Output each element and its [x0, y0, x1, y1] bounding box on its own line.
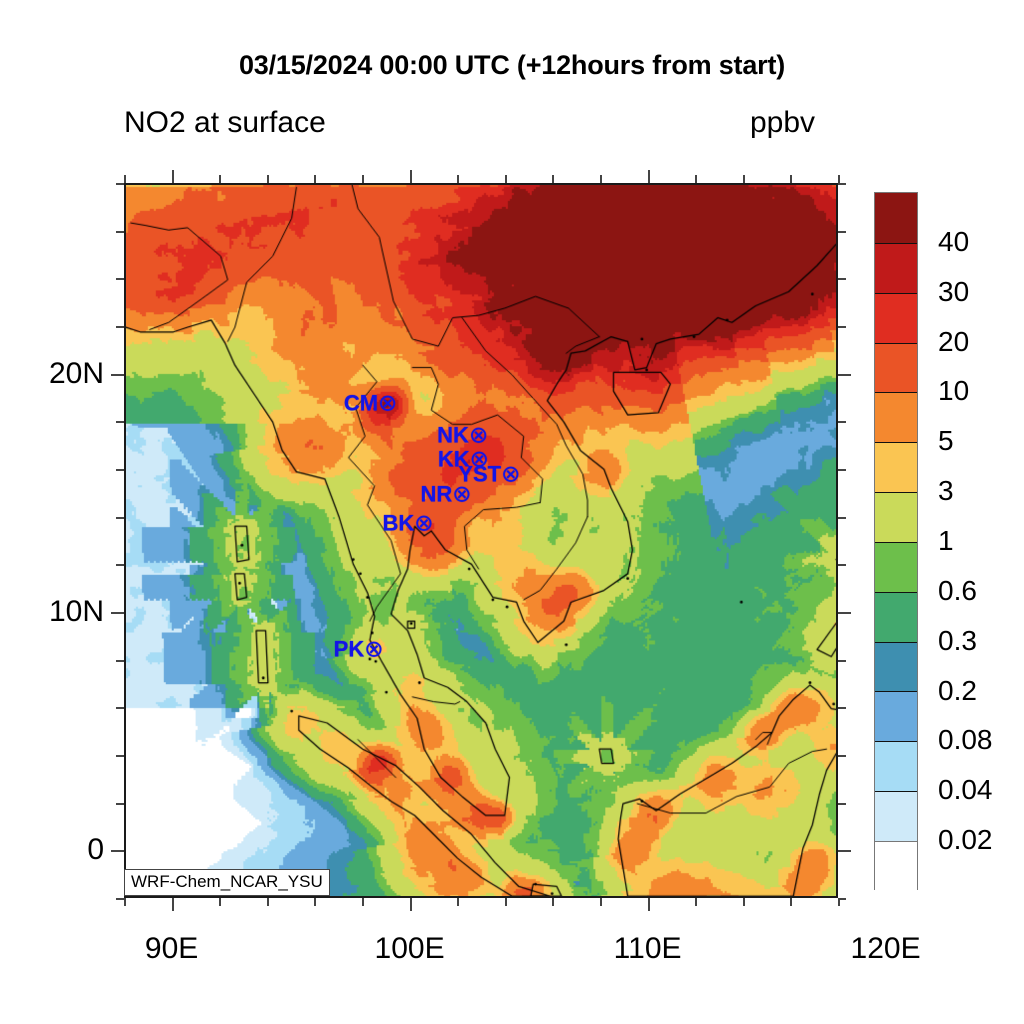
y-tick-minor	[116, 707, 124, 709]
y-tick-minor	[116, 803, 124, 805]
city-point-icon: ⊗	[452, 480, 471, 506]
x-tick-minor-top	[505, 175, 507, 183]
x-tick-minor-top	[552, 175, 554, 183]
colorbar-band	[875, 542, 917, 592]
y-axis-label: 0	[87, 833, 104, 867]
x-tick-minor-top	[695, 175, 697, 183]
y-tick-minor-right	[838, 803, 846, 805]
y-tick-minor	[116, 564, 124, 566]
y-tick-minor	[116, 755, 124, 757]
y-tick-minor-right	[838, 898, 846, 900]
colorbar-tick-label: 0.3	[938, 625, 977, 657]
x-axis-label: 100E	[375, 932, 445, 966]
y-tick-minor-right	[838, 517, 846, 519]
x-tick-minor-top	[838, 175, 840, 183]
x-tick-minor-top	[124, 175, 126, 183]
x-tick-minor-top	[457, 175, 459, 183]
y-tick-minor-right	[838, 660, 846, 662]
y-axis-label: 20N	[49, 357, 104, 391]
city-marker-bk: BK⊗	[382, 511, 433, 534]
x-tick-minor	[267, 898, 269, 906]
colorbar-band	[875, 243, 917, 293]
colorbar-tick-label: 0.04	[938, 774, 993, 806]
x-tick-minor-top	[600, 175, 602, 183]
x-tick-minor-top	[314, 175, 316, 183]
x-tick-minor	[362, 898, 364, 906]
colorbar-band	[875, 691, 917, 741]
colorbar-tick-label: 0.02	[938, 824, 993, 856]
colorbar-band	[875, 841, 917, 891]
y-tick-minor-right	[838, 707, 846, 709]
plot-subtitle: NO2 at surface	[124, 106, 326, 140]
colorbar-band	[875, 492, 917, 542]
city-marker-cm: CM⊗	[344, 391, 398, 414]
y-tick-minor	[116, 898, 124, 900]
x-tick-major-top	[410, 170, 412, 183]
x-tick-minor	[600, 898, 602, 906]
colorbar-band	[875, 293, 917, 343]
y-tick-minor	[116, 278, 124, 280]
city-label: NK	[437, 423, 469, 448]
x-tick-major-top	[648, 170, 650, 183]
colorbar-tick-label: 0.08	[938, 724, 993, 756]
y-tick-minor	[116, 517, 124, 519]
x-tick-minor	[790, 898, 792, 906]
colorbar-tick-label: 3	[938, 475, 954, 507]
colorbar-tick-label: 5	[938, 425, 954, 457]
city-point-icon: ⊗	[414, 509, 433, 535]
colorbar-band	[875, 791, 917, 841]
colorbar-tick-label: 40	[938, 226, 969, 258]
city-label: CM	[344, 390, 378, 415]
y-tick-major	[111, 850, 124, 852]
y-tick-major	[111, 374, 124, 376]
colorbar-tick-label: 1	[938, 525, 954, 557]
x-tick-minor-top	[743, 175, 745, 183]
colorbar-tick-label: 10	[938, 375, 969, 407]
y-tick-minor	[116, 469, 124, 471]
no2-contour-map	[126, 185, 836, 896]
colorbar-band	[875, 343, 917, 393]
city-point-icon: ⊗	[378, 389, 397, 415]
y-tick-minor-right	[838, 278, 846, 280]
city-marker-nr: NR⊗	[421, 482, 472, 505]
colorbar-band	[875, 642, 917, 692]
y-tick-minor	[116, 326, 124, 328]
x-axis-label: 90E	[145, 932, 198, 966]
x-tick-minor	[552, 898, 554, 906]
colorbar-band	[875, 592, 917, 642]
y-tick-minor	[116, 421, 124, 423]
figure-root: 03/15/2024 00:00 UTC (+12hours from star…	[0, 0, 1024, 1024]
city-marker-nk: NK⊗	[437, 424, 488, 447]
city-marker-pk: PK⊗	[334, 638, 384, 661]
map-plot-area	[124, 183, 838, 898]
city-point-icon: ⊗	[501, 460, 520, 486]
city-label: BK	[382, 510, 414, 535]
x-tick-minor	[505, 898, 507, 906]
colorbar-band	[875, 442, 917, 492]
page-title: 03/15/2024 00:00 UTC (+12hours from star…	[0, 50, 1024, 81]
city-label: PK	[334, 637, 365, 662]
y-tick-major-right	[838, 850, 851, 852]
colorbar-tick-label: 0.2	[938, 675, 977, 707]
y-tick-major	[111, 612, 124, 614]
y-tick-minor	[116, 183, 124, 185]
y-tick-minor-right	[838, 183, 846, 185]
y-tick-minor-right	[838, 326, 846, 328]
city-label: NR	[421, 481, 453, 506]
y-tick-minor-right	[838, 755, 846, 757]
x-tick-minor	[695, 898, 697, 906]
city-point-icon: ⊗	[469, 422, 488, 448]
city-point-icon: ⊗	[364, 636, 383, 662]
colorbar-tick-label: 20	[938, 326, 969, 358]
colorbar-tick-label: 0.6	[938, 575, 977, 607]
y-tick-minor	[116, 660, 124, 662]
colorbar-band	[875, 193, 917, 243]
colorbar-band	[875, 741, 917, 791]
x-tick-minor	[314, 898, 316, 906]
x-tick-minor-top	[790, 175, 792, 183]
x-tick-major	[410, 898, 412, 911]
x-tick-major-top	[172, 170, 174, 183]
y-tick-minor-right	[838, 564, 846, 566]
y-tick-major-right	[838, 374, 851, 376]
x-axis-label: 110E	[614, 932, 682, 966]
y-tick-minor-right	[838, 231, 846, 233]
y-tick-major-right	[838, 612, 851, 614]
y-tick-minor-right	[838, 421, 846, 423]
y-axis-label: 10N	[49, 595, 104, 629]
y-tick-minor-right	[838, 469, 846, 471]
y-tick-minor	[116, 231, 124, 233]
x-axis-label: 120E	[851, 932, 921, 966]
x-tick-minor	[219, 898, 221, 906]
x-tick-minor	[743, 898, 745, 906]
x-tick-minor-top	[267, 175, 269, 183]
colorbar-tick-label: 30	[938, 276, 969, 308]
attribution-box: WRF-Chem_NCAR_YSU	[124, 869, 330, 896]
x-tick-major	[172, 898, 174, 911]
colorbar	[874, 192, 918, 890]
x-tick-minor	[124, 898, 126, 906]
units-label: ppbv	[750, 106, 815, 140]
x-tick-major	[648, 898, 650, 911]
x-tick-minor-top	[362, 175, 364, 183]
x-tick-minor	[457, 898, 459, 906]
colorbar-band	[875, 392, 917, 442]
x-tick-minor-top	[219, 175, 221, 183]
